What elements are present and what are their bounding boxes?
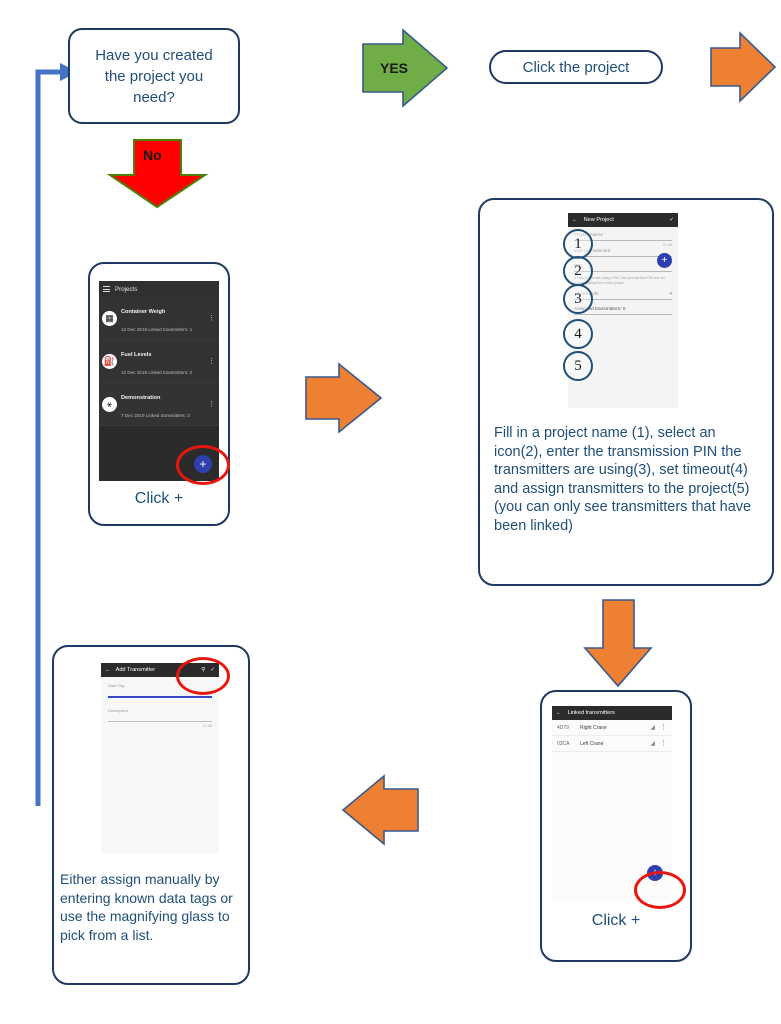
orange-arrow-down	[585, 600, 651, 686]
check-icon[interactable]: ✓	[669, 217, 674, 223]
transmitter-id: 4D79	[557, 725, 575, 731]
step-badge-5: 5	[563, 351, 593, 381]
new-project-instructions: Fill in a project name (1), select an ic…	[494, 424, 766, 535]
step-badge-4: 4	[563, 319, 593, 349]
description-input[interactable]	[108, 721, 212, 722]
hamburger-icon[interactable]	[103, 286, 110, 292]
list-item[interactable]: ⚹ Demonstration 7 Dec 2019 Linked transm…	[99, 383, 219, 426]
search-icon-highlight	[176, 657, 230, 695]
back-arrow-icon[interactable]: ←	[572, 217, 578, 223]
add-transmitter-appbar-title: Add Transmitter	[116, 667, 155, 673]
chevron-down-icon[interactable]: ▾	[670, 292, 672, 297]
projects-list: ▦ Container Weigh 12 Dec 2019 Linked tra…	[99, 297, 219, 426]
linked-fab-highlight	[634, 871, 686, 909]
description-counter: 0 / 40	[108, 724, 212, 728]
data-tag-input[interactable]	[108, 696, 212, 698]
linked-card-caption: Click +	[540, 912, 692, 930]
click-the-project-label: Click the project	[523, 58, 630, 77]
description-label: Description	[108, 708, 212, 713]
overflow-menu-icon[interactable]: ⋮	[208, 358, 215, 365]
project-title: Container Weigh	[121, 309, 165, 315]
project-subtitle: 12 Dec 2019 Linked transmitters: 2	[121, 370, 192, 375]
orange-arrow-middle-right	[306, 364, 381, 432]
step-badge-3: 3	[563, 284, 593, 314]
projects-fab-highlight	[176, 445, 230, 485]
add-transmitter-instructions: Either assign manually by entering known…	[60, 870, 242, 944]
overflow-menu-icon[interactable]: ⋮	[208, 315, 215, 322]
wifi-icon: ◢	[650, 724, 655, 731]
project-title: Demonstration	[121, 395, 160, 401]
overflow-menu-icon[interactable]: ⋮	[208, 401, 215, 408]
linked-transmitters-appbar: ← Linked transmitters	[552, 706, 672, 720]
projects-appbar-title: Projects	[115, 286, 137, 293]
orange-arrow-left	[343, 776, 418, 844]
transmitter-name: Right Crane	[580, 725, 645, 731]
flowchart-canvas: YES No Have you created the project you …	[0, 0, 781, 1024]
overflow-menu-icon[interactable]: ⋮	[660, 740, 667, 747]
no-arrow-label: No	[143, 147, 162, 163]
table-row[interactable]: 03CA Left Crane ◢ ⋮	[552, 736, 672, 752]
overflow-menu-icon[interactable]: ⋮	[660, 724, 667, 731]
fuel-pump-icon: ⛽	[102, 354, 117, 369]
linked-transmitters-appbar-title: Linked transmitters	[568, 710, 615, 716]
project-subtitle: 12 Dec 2019 Linked transmitters: 1	[121, 327, 192, 332]
step-badge-1: 1	[563, 229, 593, 259]
list-item[interactable]: ▦ Container Weigh 12 Dec 2019 Linked tra…	[99, 297, 219, 340]
person-icon: ⚹	[102, 397, 117, 412]
back-arrow-icon[interactable]: ←	[556, 710, 562, 716]
project-subtitle: 7 Dec 2019 Linked transmitters: 3	[121, 413, 190, 418]
list-item[interactable]: ⛽ Fuel Levels 12 Dec 2019 Linked transmi…	[99, 340, 219, 383]
project-title: Fuel Levels	[121, 352, 151, 358]
projects-card-caption: Click +	[88, 490, 230, 508]
transmitter-name: Left Crane	[580, 741, 645, 747]
grid-icon: ▦	[102, 311, 117, 326]
orange-arrow-top-right	[711, 33, 775, 101]
back-arrow-icon[interactable]: ←	[105, 667, 111, 673]
new-project-appbar: ← New Project ✓	[568, 213, 678, 227]
projects-appbar: Projects	[99, 281, 219, 297]
new-project-appbar-title: New Project	[584, 217, 664, 223]
decision-box-text: Have you created the project you need?	[95, 45, 213, 108]
table-row[interactable]: 4D79 Right Crane ◢ ⋮	[552, 720, 672, 736]
step-badge-2: 2	[563, 256, 593, 286]
decision-box: Have you created the project you need?	[68, 28, 240, 124]
icon-picker-button[interactable]: +	[657, 253, 672, 268]
yes-arrow-label: YES	[380, 60, 408, 76]
click-the-project-box: Click the project	[489, 50, 663, 84]
wifi-icon: ◢	[650, 740, 655, 747]
linked-transmitters-list: 4D79 Right Crane ◢ ⋮ 03CA Left Crane ◢ ⋮	[552, 720, 672, 752]
transmitter-id: 03CA	[557, 741, 575, 747]
